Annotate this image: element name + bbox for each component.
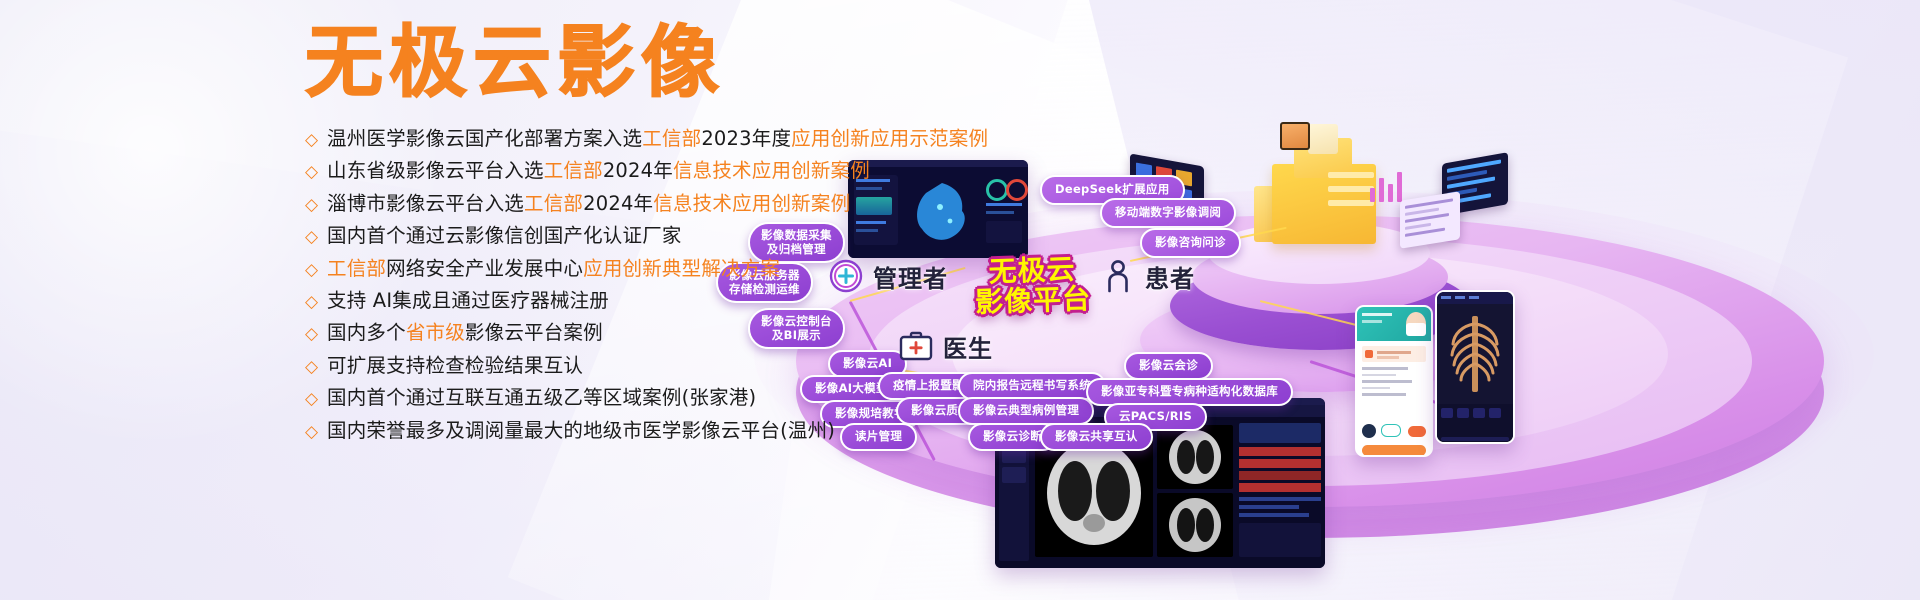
achievement-item-text: 国内首个通过互联互通五级乙等区域案例(张家港): [327, 387, 756, 409]
diamond-bullet-icon: ◇: [305, 424, 327, 441]
diamond-bullet-icon: ◇: [305, 326, 327, 343]
achievement-item: ◇国内多个省市级影像云平台案例: [305, 322, 945, 354]
achievement-item: ◇可扩展支持检查检验结果互认: [305, 355, 945, 387]
isometric-city-illustration: [1220, 120, 1430, 260]
diamond-bullet-icon: ◇: [305, 262, 327, 279]
tag-patient-2[interactable]: 影像咨询问诊: [1140, 228, 1241, 258]
achievement-item: ◇温州医学影像云国产化部署方案入选工信部2023年度应用创新应用示范案例: [305, 128, 945, 160]
achievement-item: ◇工信部网络安全产业发展中心应用创新典型解决方案: [305, 258, 945, 290]
achievement-item-text: 山东省级影像云平台入选工信部2024年信息技术应用创新案例: [327, 160, 870, 182]
center-badge-line-2: 影像平台: [938, 283, 1129, 320]
tag-doctor-9[interactable]: 影像云会诊: [1124, 352, 1213, 380]
left-content-panel: 无极云影像 ◇温州医学影像云国产化部署方案入选工信部2023年度应用创新应用示范…: [0, 0, 960, 600]
achievement-item-text: 支持 AI集成且通过医疗器械注册: [327, 290, 609, 312]
diamond-bullet-icon: ◇: [305, 197, 327, 214]
city-stripe-3: [1328, 200, 1374, 206]
achievement-item-text: 国内首个通过云影像信创国产化认证厂家: [327, 225, 682, 247]
tag-doctor-10[interactable]: 影像亚专科暨专病种适构化数据库: [1086, 378, 1293, 406]
achievement-item-text: 温州医学影像云国产化部署方案入选工信部2023年度应用创新应用示范案例: [327, 128, 988, 150]
diamond-bullet-icon: ◇: [305, 164, 327, 181]
tag-doctor-6[interactable]: 院内报告远程书写系统: [958, 372, 1106, 400]
device-patient-phone-consult: [1355, 305, 1433, 457]
tag-patient-1[interactable]: 移动端数字影像调阅: [1100, 198, 1236, 228]
diamond-bullet-icon: ◇: [305, 359, 327, 376]
role-patient-label: 患者: [1145, 259, 1195, 294]
achievement-item: ◇国内首个通过云影像信创国产化认证厂家: [305, 225, 945, 257]
city-stripe-1: [1328, 172, 1374, 178]
achievement-item-text: 国内荣誉最多及调阅量最大的地级市医学影像云平台(温州): [327, 420, 835, 442]
city-block-orange: [1280, 122, 1310, 150]
achievement-item: ◇国内荣誉最多及调阅量最大的地级市医学影像云平台(温州): [305, 420, 945, 452]
achievement-item-text: 工信部网络安全产业发展中心应用创新典型解决方案: [327, 258, 780, 280]
city-stripe-2: [1328, 186, 1374, 192]
achievement-item: ◇淄博市影像云平台入选工信部2024年信息技术应用创新案例: [305, 193, 945, 225]
diamond-bullet-icon: ◇: [305, 229, 327, 246]
city-block-white: [1308, 124, 1338, 154]
tag-doctor-7[interactable]: 影像云典型病例管理: [958, 397, 1094, 425]
diamond-bullet-icon: ◇: [305, 294, 327, 311]
achievement-item: ◇山东省级影像云平台入选工信部2024年信息技术应用创新案例: [305, 160, 945, 192]
diamond-bullet-icon: ◇: [305, 132, 327, 149]
diamond-bullet-icon: ◇: [305, 391, 327, 408]
device-patient-phone-3d-render: [1435, 290, 1515, 444]
tag-doctor-12[interactable]: 影像云共享互认: [1040, 423, 1153, 451]
page-title: 无极云影像: [305, 24, 725, 102]
city-bar-chart: [1370, 168, 1408, 202]
achievement-item-text: 可扩展支持检查检验结果互认: [327, 355, 583, 377]
mini-screen-white: [1400, 191, 1460, 249]
achievement-list: ◇温州医学影像云国产化部署方案入选工信部2023年度应用创新应用示范案例◇山东省…: [305, 128, 945, 452]
achievement-item-text: 国内多个省市级影像云平台案例: [327, 322, 603, 344]
achievement-item-text: 淄博市影像云平台入选工信部2024年信息技术应用创新案例: [327, 193, 850, 215]
center-platform-badge: 无极云 影像平台: [937, 253, 1130, 340]
achievement-item: ◇支持 AI集成且通过医疗器械注册: [305, 290, 945, 322]
achievement-item: ◇国内首个通过互联互通五级乙等区域案例(张家港): [305, 387, 945, 419]
